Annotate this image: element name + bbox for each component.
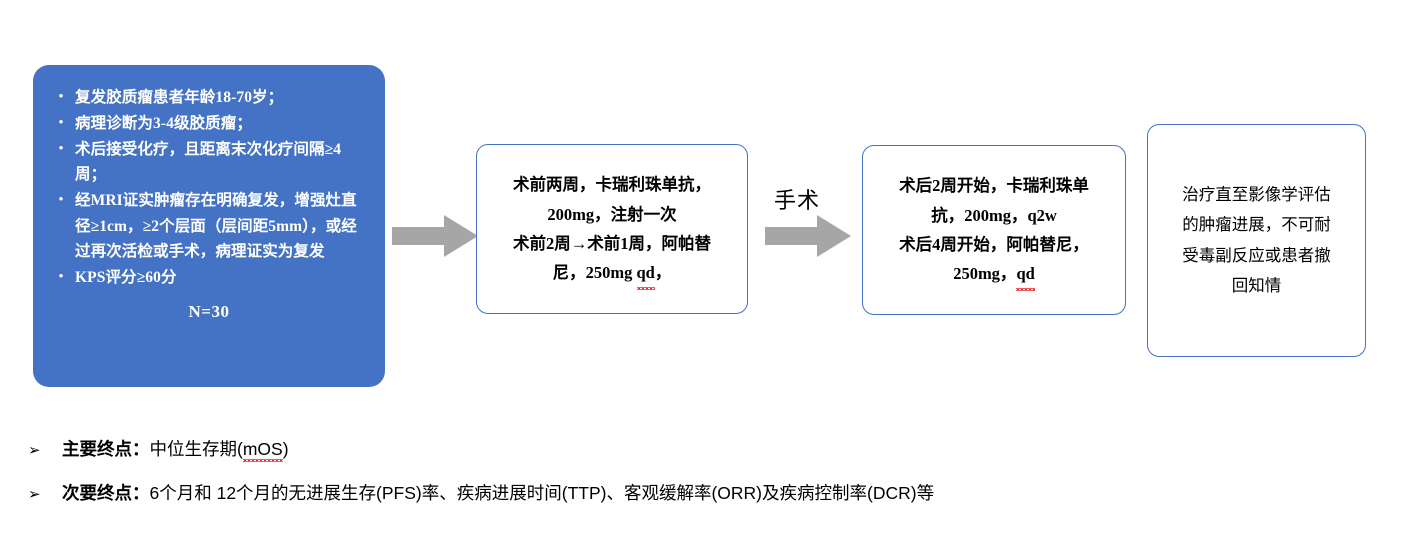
bullet-icon: • [47, 188, 75, 210]
secondary-endpoint-value: 6个月和 12个月的无进展生存(PFS)率、疾病进展时间(TTP)、客观缓解率(… [150, 480, 935, 505]
bullet-icon: • [47, 111, 75, 133]
list-item: • KPS评分≥60分 [47, 265, 371, 290]
protocol-line: 尼，250mg qd， [553, 258, 672, 287]
primary-endpoint-label: 主要终点： [62, 436, 150, 461]
protocol-line: 术前2周→术前1周，阿帕替 [513, 229, 711, 258]
bullet-icon: • [47, 85, 75, 107]
criterion-text: 术后接受化疗，且距离末次化疗间隔≥4周； [75, 137, 371, 187]
right-arrow-icon [392, 215, 478, 262]
secondary-endpoint-row: ➢ 次要终点： 6个月和 12个月的无进展生存(PFS)率、疾病进展时间(TTP… [28, 480, 1208, 505]
criterion-text: KPS评分≥60分 [75, 265, 371, 290]
followup-line: 治疗直至影像学评估 [1182, 180, 1331, 210]
protocol-line: 抗，200mg，q2w [931, 201, 1057, 230]
list-item: • 术后接受化疗，且距离末次化疗间隔≥4周； [47, 137, 371, 187]
criterion-text: 经MRI证实肿瘤存在明确复发，增强灶直径≥1cm，≥2个层面（层间距5mm），或… [75, 188, 371, 263]
protocol-line: 200mg，注射一次 [547, 200, 676, 229]
list-item: • 复发胶质瘤患者年龄18-70岁； [47, 85, 371, 110]
spellcheck-token: qd [637, 258, 655, 287]
sample-size-label: N=30 [47, 302, 371, 322]
criterion-text: 病理诊断为3-4级胶质瘤； [75, 111, 371, 136]
list-item: • 病理诊断为3-4级胶质瘤； [47, 111, 371, 136]
protocol-line: 术前两周，卡瑞利珠单抗， [513, 170, 711, 199]
arrowhead-bullet-icon: ➢ [28, 487, 62, 502]
arrowhead-bullet-icon: ➢ [28, 443, 62, 458]
followup-line: 回知情 [1232, 271, 1282, 301]
trial-design-diagram: • 复发胶质瘤患者年龄18-70岁； • 病理诊断为3-4级胶质瘤； • 术后接… [0, 0, 1412, 542]
bullet-icon: • [47, 265, 75, 287]
primary-endpoint-suffix: ) [283, 439, 289, 459]
endpoints-section: ➢ 主要终点： 中位生存期(mOS) ➢ 次要终点： 6个月和 12个月的无进展… [28, 436, 1208, 524]
treatment-until-progression-box: 治疗直至影像学评估 的肿瘤进展，不可耐 受毒副反应或患者撤 回知情 [1147, 124, 1366, 357]
spellcheck-token: mOS [243, 439, 283, 460]
primary-endpoint-value: 中位生存期(mOS) [150, 436, 289, 461]
protocol-line: 术后4周开始，阿帕替尼， [899, 230, 1089, 259]
eligibility-criteria-box: • 复发胶质瘤患者年龄18-70岁； • 病理诊断为3-4级胶质瘤； • 术后接… [33, 65, 385, 387]
bullet-icon: • [47, 137, 75, 159]
postoperative-protocol-box: 术后2周开始，卡瑞利珠单 抗，200mg，q2w 术后4周开始，阿帕替尼， 25… [862, 145, 1126, 315]
secondary-endpoint-label: 次要终点： [62, 480, 150, 505]
list-item: • 经MRI证实肿瘤存在明确复发，增强灶直径≥1cm，≥2个层面（层间距5mm）… [47, 188, 371, 263]
right-arrow-icon [765, 215, 851, 262]
primary-endpoint-prefix: 中位生存期( [150, 439, 243, 459]
eligibility-criteria-list: • 复发胶质瘤患者年龄18-70岁； • 病理诊断为3-4级胶质瘤； • 术后接… [47, 85, 371, 290]
criterion-text: 复发胶质瘤患者年龄18-70岁； [75, 85, 371, 110]
protocol-line: 术后2周开始，卡瑞利珠单 [899, 171, 1089, 200]
protocol-line: 250mg，qd [953, 259, 1035, 288]
primary-endpoint-row: ➢ 主要终点： 中位生存期(mOS) [28, 436, 1208, 461]
preoperative-protocol-box: 术前两周，卡瑞利珠单抗， 200mg，注射一次 术前2周→术前1周，阿帕替 尼，… [476, 144, 748, 314]
spellcheck-token: qd [1016, 259, 1034, 288]
followup-line: 受毒副反应或患者撤 [1182, 241, 1331, 271]
followup-line: 的肿瘤进展，不可耐 [1182, 210, 1331, 240]
surgery-step-label: 手术 [774, 183, 820, 215]
